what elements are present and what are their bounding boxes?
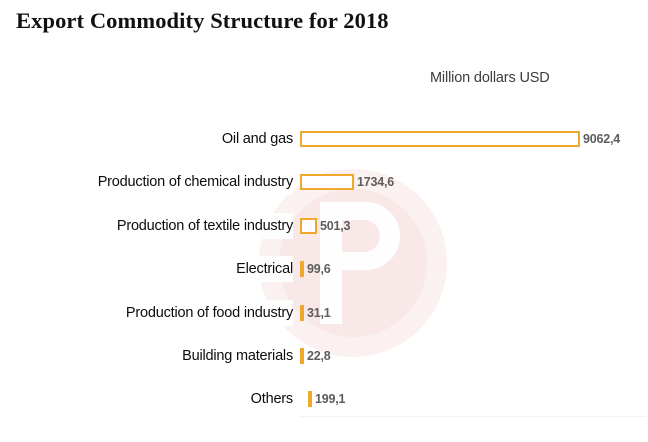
chart-row: Oil and gas9062,4 (0, 126, 648, 152)
bar-5[interactable] (300, 305, 304, 321)
bar-wrapper: 31,1 (300, 300, 640, 326)
chart-row: Production of textile industry501,3 (0, 213, 648, 239)
value-label-2: 1734,6 (357, 169, 394, 195)
chart-container: Export Commodity Structure for 2018 Mill… (0, 0, 648, 442)
category-label-4: Electrical (10, 256, 293, 282)
bar-wrapper: 501,3 (300, 213, 640, 239)
bar-6[interactable] (300, 348, 304, 364)
category-label-6: Building materials (10, 343, 293, 369)
bar-wrapper: 199,1 (300, 386, 640, 412)
bar-wrapper: 99,6 (300, 256, 640, 282)
value-label-6: 22,8 (307, 343, 331, 369)
value-label-3: 501,3 (320, 213, 350, 239)
category-label-2: Production of chemical industry (10, 169, 293, 195)
bar-3[interactable] (300, 218, 317, 234)
page-title: Export Commodity Structure for 2018 (16, 8, 389, 34)
bar-4[interactable] (300, 261, 304, 277)
category-label-7: Others (10, 386, 293, 412)
value-label-4: 99,6 (307, 256, 331, 282)
bar-2[interactable] (300, 174, 354, 190)
value-label-1: 9062,4 (583, 126, 620, 152)
value-label-5: 31,1 (307, 300, 331, 326)
value-label-7: 199,1 (315, 386, 345, 412)
axis-unit-label: Million dollars USD (430, 70, 550, 86)
bar-wrapper: 22,8 (300, 343, 640, 369)
chart-row: Production of chemical industry1734,6 (0, 169, 648, 195)
plot-area: Oil and gas9062,4Production of chemical … (0, 118, 648, 418)
bar-wrapper: 1734,6 (300, 169, 640, 195)
chart-row: Building materials22,8 (0, 343, 648, 369)
chart-row: Electrical99,6 (0, 256, 648, 282)
category-label-5: Production of food industry (10, 300, 293, 326)
category-label-1: Oil and gas (10, 126, 293, 152)
bar-1[interactable] (300, 131, 580, 147)
category-label-3: Production of textile industry (10, 213, 293, 239)
bar-7[interactable] (308, 391, 312, 407)
chart-row: Production of food industry31,1 (0, 300, 648, 326)
bar-wrapper: 9062,4 (300, 126, 640, 152)
chart-row: Others199,1 (0, 386, 648, 412)
